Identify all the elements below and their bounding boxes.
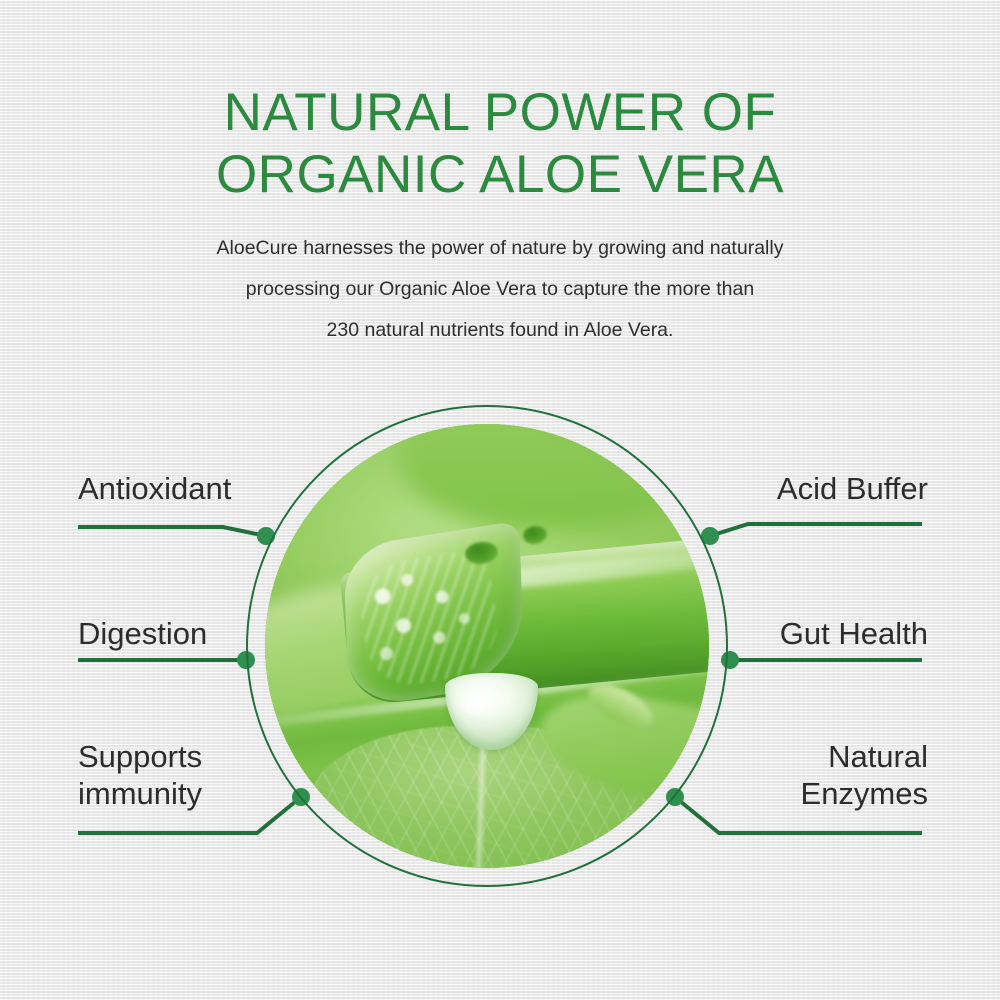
connector-antioxidant <box>78 527 266 536</box>
benefit-label-natural-enzymes-line-1b: Natural <box>828 739 928 774</box>
benefit-label-natural-enzymes-line-2: Enzymes <box>801 775 928 812</box>
benefit-label-natural-enzymes: Natural Enzymes <box>801 738 928 812</box>
benefit-label-antioxidant-line-1: Antioxidant <box>78 471 231 506</box>
benefit-label-acid-buffer-line-1: Acid Buffer <box>777 471 928 506</box>
benefit-label-acid-buffer: Acid Buffer <box>777 470 928 507</box>
connector-acid-buffer <box>710 524 922 536</box>
benefit-label-supports-immunity-line-2: immunity <box>78 775 202 812</box>
benefit-label-digestion-line-1: Digestion <box>78 616 207 651</box>
aloe-vera-leaf-photo <box>265 424 709 868</box>
benefit-label-digestion: Digestion <box>78 615 207 652</box>
benefit-label-supports-immunity: Supports immunity <box>78 738 202 812</box>
benefit-label-supports-immunity-line-1: Supports <box>78 739 202 774</box>
benefit-label-gut-health-line-1: Gut Health <box>780 616 928 651</box>
benefits-diagram: Antioxidant Digestion Supports immunity … <box>0 0 1000 1000</box>
benefit-label-antioxidant: Antioxidant <box>78 470 231 507</box>
benefit-label-gut-health: Gut Health <box>780 615 928 652</box>
photo-layer-droplet-highlight <box>460 690 491 714</box>
